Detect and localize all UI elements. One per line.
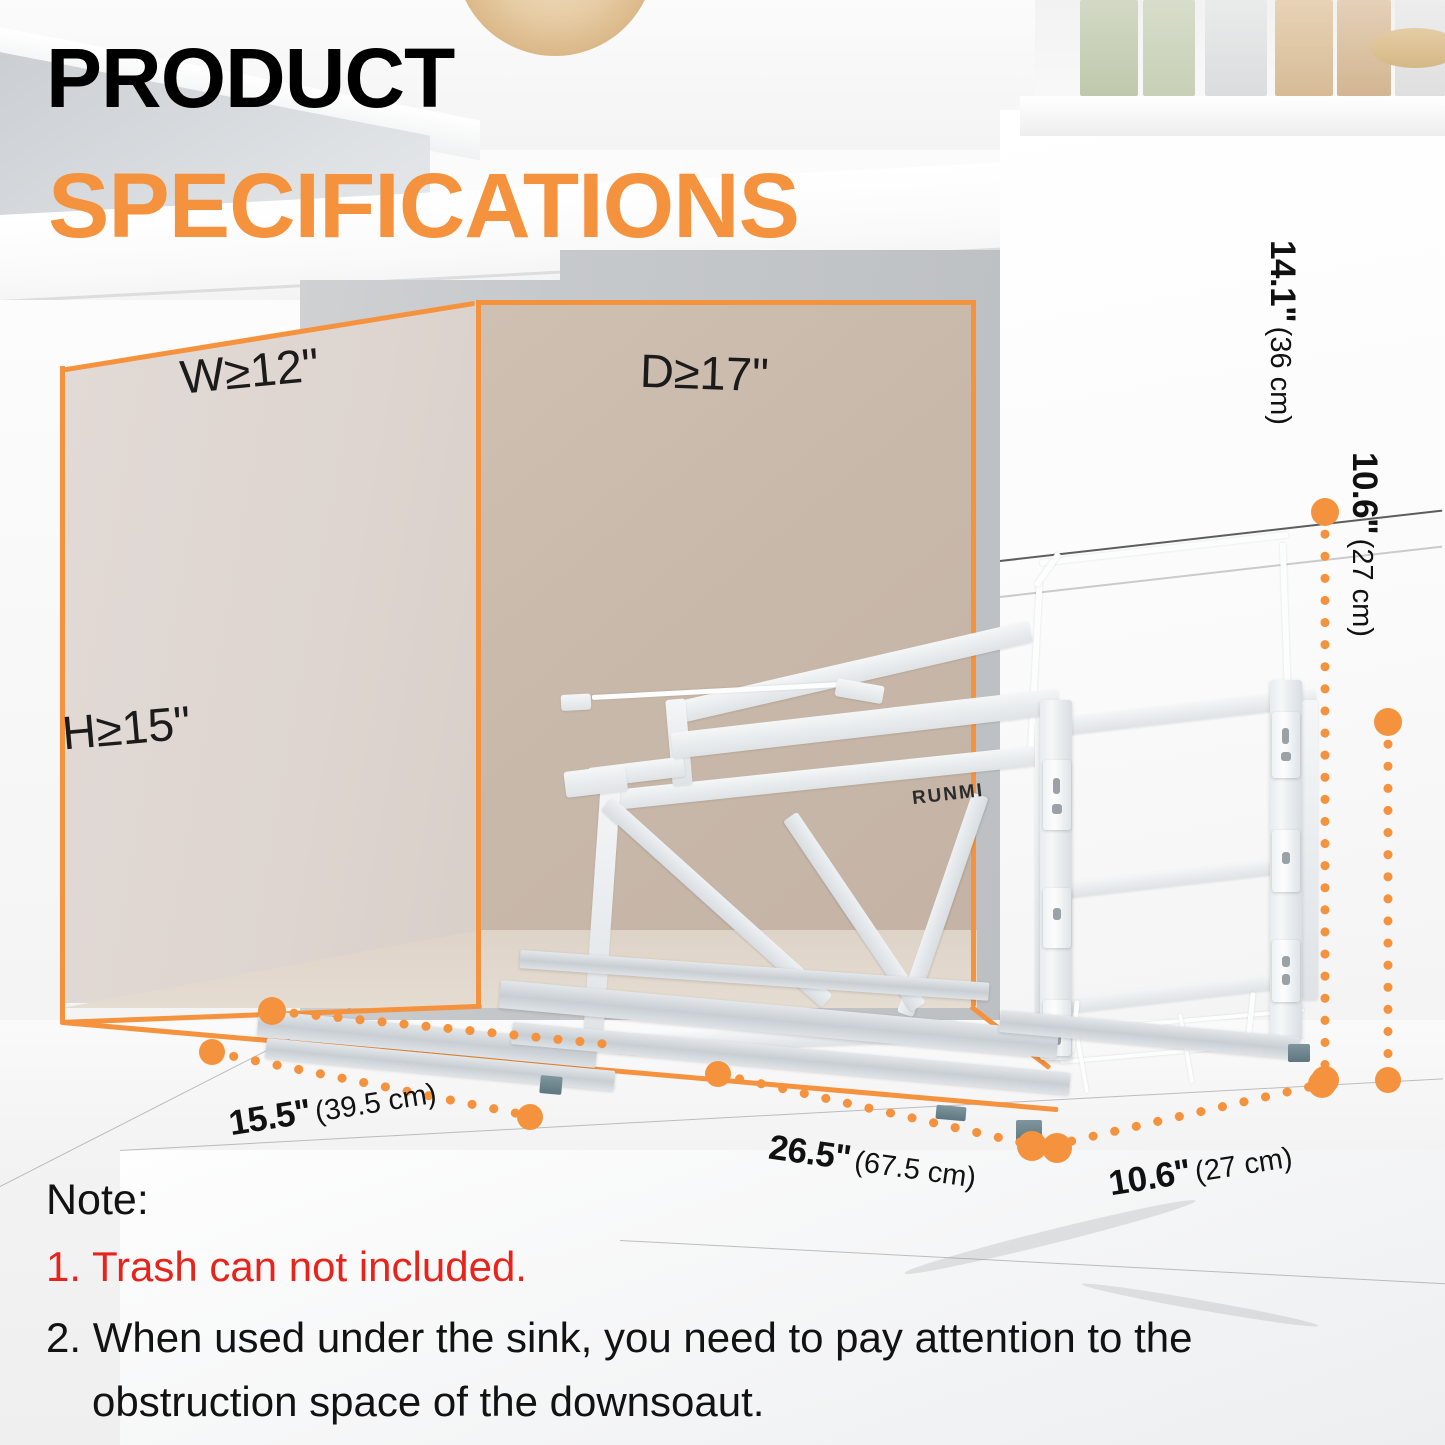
bracket-slot — [1053, 778, 1060, 794]
bracket-plate-left — [1043, 760, 1071, 830]
bracket-slot — [1282, 728, 1289, 744]
dimension-inches: 10.6" — [1345, 452, 1384, 534]
dimension-metric: (27 cm) — [1346, 539, 1378, 637]
note-item-2-line-1: 2. When used under the sink, you need to… — [46, 1314, 1192, 1362]
cabinet-height-label: H≥15" — [60, 694, 193, 760]
release-lever-catch — [834, 678, 884, 704]
dimension-label-basket-height: 10.6" (27 cm) — [1344, 452, 1384, 637]
rail-foot-left — [539, 1075, 562, 1095]
product-specification-image: RUNMI — [0, 0, 1445, 1445]
bracket-slot — [1282, 852, 1290, 864]
wire-handle-top-bar — [1040, 532, 1289, 566]
basket-front-upright — [1302, 700, 1318, 1000]
bracket-slot — [1053, 908, 1061, 920]
rail-foot-right — [1288, 1044, 1310, 1062]
cabinet-depth-label: D≥17" — [639, 343, 770, 402]
release-lever-pivot — [561, 693, 592, 711]
bracket-slot — [1282, 956, 1290, 967]
note-item-1: 1. Trash can not included. — [46, 1243, 527, 1291]
bracket-slot — [1052, 804, 1062, 814]
bracket-plate-right — [1272, 940, 1300, 1002]
notes-heading: Note: — [46, 1176, 149, 1225]
page-title-line-1: PRODUCT — [46, 36, 454, 120]
wire-handle-left-diagonal — [1034, 552, 1062, 588]
rail-stop-bracket — [935, 1105, 966, 1122]
bracket-slot — [1281, 752, 1291, 761]
bracket-plate-right — [1272, 712, 1300, 778]
note-item-2-line-2: obstruction space of the downsoaut. — [92, 1378, 764, 1426]
bracket-slot — [1282, 974, 1290, 985]
dimension-label-overall-height: 14.1" (36 cm) — [1262, 240, 1302, 425]
dimension-metric: (36 cm) — [1264, 327, 1296, 425]
dimension-inches: 14.1" — [1263, 240, 1302, 322]
page-title-line-2: SPECIFICATIONS — [48, 160, 799, 252]
rail-foot-center — [1016, 1120, 1042, 1142]
